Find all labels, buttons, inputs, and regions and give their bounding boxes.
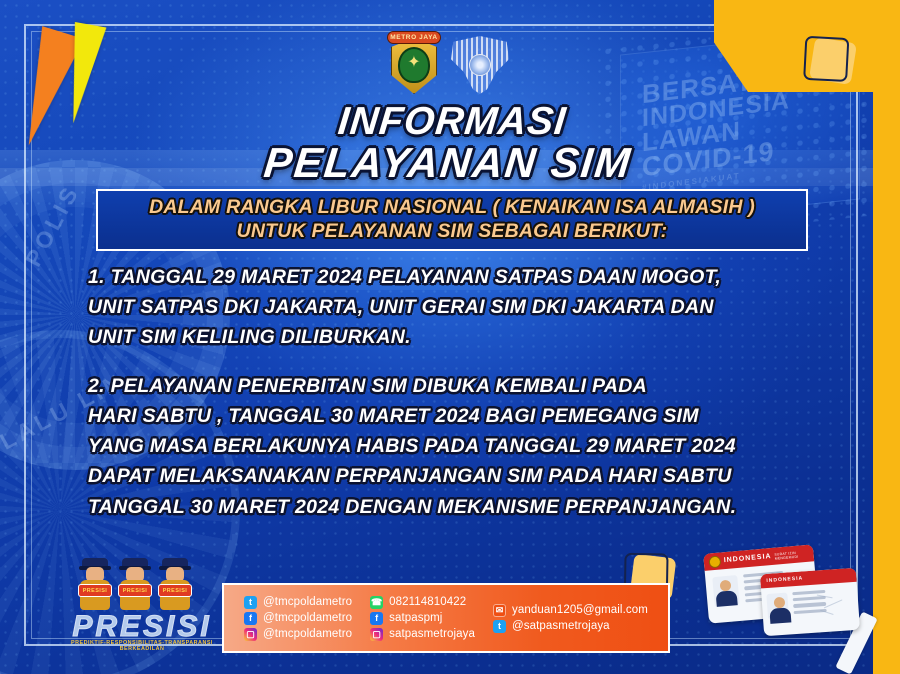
shield-star-icon: ✦: [407, 55, 420, 71]
announcement-item-2-line-3: YANG MASA BERLAKUNYA HABIS PADA TANGGAL …: [88, 431, 788, 461]
mail-icon: ✉: [493, 604, 506, 617]
contact-handle: @tmcpoldametro: [263, 612, 352, 624]
shield-ribbon-label: METRO JAYA: [387, 31, 441, 44]
poster-canvas: POLIS LALU LIN BERSATU INDONESIA LAWAN C…: [0, 0, 900, 674]
police-mascot-icon: PRESISI: [156, 556, 194, 612]
contact-row[interactable]: t @satpasmetrojaya: [493, 620, 648, 633]
announcement-item-1: 1. TANGGAL 29 MARET 2024 PELAYANAN SATPA…: [88, 262, 788, 353]
presisi-wordmark: PRESISI: [62, 612, 222, 642]
contact-row[interactable]: t @tmcpoldametro: [244, 596, 352, 609]
page-title: INFORMASI PELAYANAN SIM: [0, 102, 900, 185]
contact-handle: satpasmetrojaya: [389, 628, 475, 640]
announcement-item-2-line-1: 2. PELAYANAN PENERBITAN SIM DIBUKA KEMBA…: [88, 371, 788, 401]
contact-row[interactable]: ▢ @tmcpoldametro: [244, 628, 352, 641]
police-mascot-icon: PRESISI: [116, 556, 154, 612]
contact-handle: @tmcpoldametro: [263, 628, 352, 640]
whatsapp-icon: ☎: [370, 596, 383, 609]
contact-handle: @satpasmetrojaya: [512, 620, 610, 632]
announcement-item-1-line-2: UNIT SATPAS DKI JAKARTA, UNIT GERAI SIM …: [88, 292, 788, 322]
sim-card-photo: [766, 593, 789, 620]
facebook-icon: f: [370, 612, 383, 625]
banner-line-1: DALAM RANGKA LIBUR NASIONAL ( KENAIKAN I…: [149, 196, 755, 220]
presisi-logo: PRESISI PRESISI PRESISI PRESISI PREDIKTI…: [62, 556, 222, 650]
contact-row[interactable]: ✉ yanduan1205@gmail.com: [493, 604, 648, 617]
mascot-badge-label: PRESISI: [158, 584, 192, 597]
contact-phone: 082114810422: [389, 596, 466, 608]
contact-bar: t @tmcpoldametro f @tmcpoldametro ▢ @tmc…: [222, 583, 670, 653]
mascot-badge-label: PRESISI: [78, 584, 112, 597]
contact-row[interactable]: f @tmcpoldametro: [244, 612, 352, 625]
police-mascot-icon: PRESISI: [76, 556, 114, 612]
sim-card-illustration: INDONESIA SURAT IZIN MENGEMUDI INDONESIA: [700, 545, 870, 655]
sim-card-subtitle: SURAT IZIN MENGEMUDI: [774, 549, 814, 560]
contact-email: yanduan1205@gmail.com: [512, 604, 648, 616]
announcement-item-2-line-5: TANGGAL 30 MARET 2024 DENGAN MEKANISME P…: [88, 492, 788, 522]
korlantas-winged-emblem: [451, 36, 509, 94]
sim-card-country: INDONESIA: [724, 553, 772, 564]
banner-line-2: UNTUK PELAYANAN SIM SEBAGAI BERIKUT:: [237, 220, 668, 244]
contact-column-3: ✉ yanduan1205@gmail.com t @satpasmetroja…: [493, 604, 648, 633]
contact-handle: satpaspmj: [389, 612, 442, 624]
presisi-tagline: PREDIKTIF-RESPONSIBILITAS-TRANSPARANSI B…: [62, 640, 222, 652]
contact-column-2: ☎ 082114810422 f satpaspmj ▢ satpasmetro…: [370, 596, 475, 641]
contact-row[interactable]: f satpaspmj: [370, 612, 475, 625]
contact-handle: @tmcpoldametro: [263, 596, 352, 608]
facebook-icon: f: [244, 612, 257, 625]
emblem-row: ✦ METRO JAYA: [0, 36, 900, 94]
announcement-item-2: 2. PELAYANAN PENERBITAN SIM DIBUKA KEMBA…: [88, 371, 788, 522]
presisi-mascots: PRESISI PRESISI PRESISI: [76, 556, 194, 612]
mascot-badge-label: PRESISI: [118, 584, 152, 597]
title-line-1: INFORMASI: [0, 102, 900, 142]
twitter-icon: t: [244, 596, 257, 609]
title-line-2: PELAYANAN SIM: [0, 142, 900, 185]
instagram-icon: ▢: [244, 628, 257, 641]
announcement-item-1-line-1: 1. TANGGAL 29 MARET 2024 PELAYANAN SATPA…: [88, 262, 788, 292]
wing-center-disc: [469, 54, 491, 76]
instagram-icon: ▢: [370, 628, 383, 641]
announcement-item-1-line-3: UNIT SIM KELILING DILIBURKAN.: [88, 322, 788, 352]
twitter-icon: t: [493, 620, 506, 633]
sim-card-back: INDONESIA: [760, 568, 860, 637]
contact-row[interactable]: ▢ satpasmetrojaya: [370, 628, 475, 641]
contact-column-1: t @tmcpoldametro f @tmcpoldametro ▢ @tmc…: [244, 596, 352, 641]
announcement-item-2-line-4: DAPAT MELAKSANAKAN PERPANJANGAN SIM PADA…: [88, 461, 788, 491]
sim-card-country: INDONESIA: [766, 575, 803, 584]
announcement-item-2-line-2: HARI SABTU , TANGGAL 30 MARET 2024 BAGI …: [88, 401, 788, 431]
sim-card-map-graphic: [816, 590, 854, 626]
sim-card-photo: [712, 575, 740, 607]
headline-banner: DALAM RANGKA LIBUR NASIONAL ( KENAIKAN I…: [96, 189, 808, 251]
announcement-body: 1. TANGGAL 29 MARET 2024 PELAYANAN SATPA…: [88, 262, 788, 540]
polda-metro-jaya-emblem: ✦ METRO JAYA: [391, 38, 437, 94]
contact-row[interactable]: ☎ 082114810422: [370, 596, 475, 609]
